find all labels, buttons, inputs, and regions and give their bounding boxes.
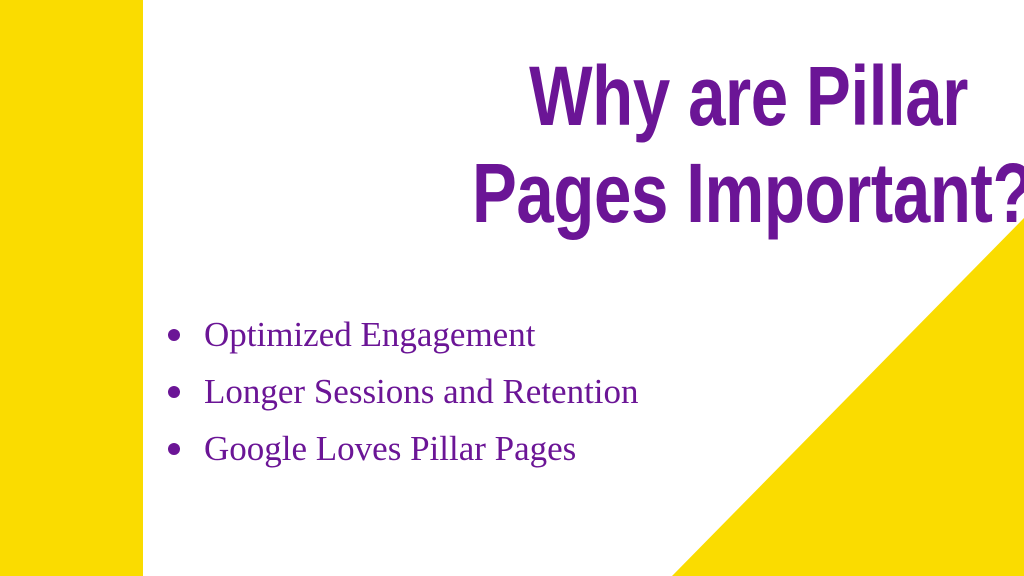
bullet-dot-icon	[168, 329, 180, 341]
bullet-list: Optimized Engagement Longer Sessions and…	[168, 306, 928, 477]
list-item: Google Loves Pillar Pages	[168, 420, 928, 477]
list-item: Optimized Engagement	[168, 306, 928, 363]
bullet-item-label: Longer Sessions and Retention	[204, 372, 639, 412]
title-line-1: Why are Pillar	[472, 48, 968, 145]
slide-title: Why are Pillar Pages Important?	[348, 48, 968, 242]
bullet-item-label: Optimized Engagement	[204, 315, 535, 355]
list-item: Longer Sessions and Retention	[168, 363, 928, 420]
left-yellow-band	[0, 0, 143, 576]
presentation-slide: Why are Pillar Pages Important? Optimize…	[0, 0, 1024, 576]
bullet-dot-icon	[168, 386, 180, 398]
bullet-item-label: Google Loves Pillar Pages	[204, 429, 576, 469]
title-line-2: Pages Important?	[472, 145, 968, 242]
bullet-dot-icon	[168, 443, 180, 455]
